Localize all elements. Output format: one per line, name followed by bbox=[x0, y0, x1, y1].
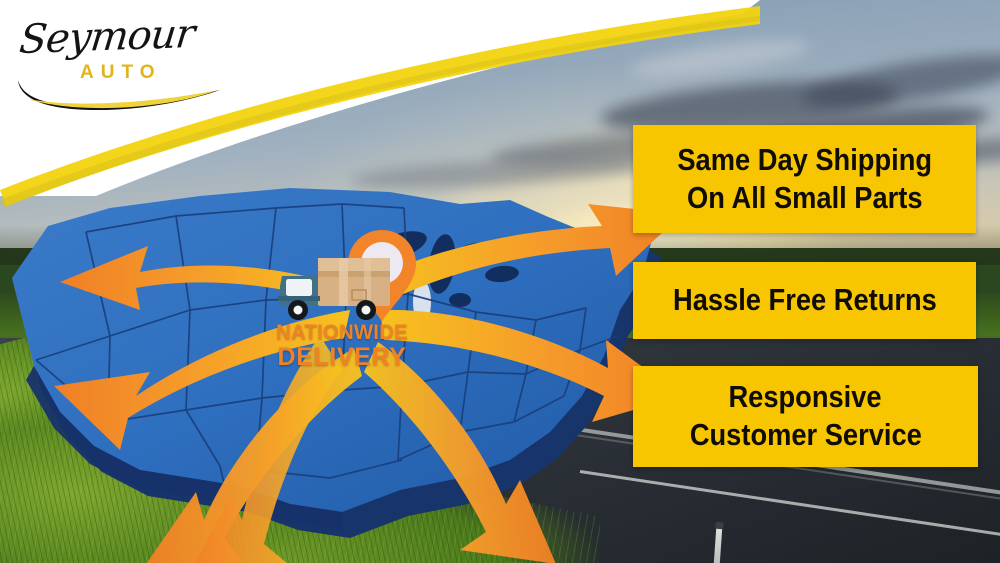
caption-line-nationwide: NATIONWIDE bbox=[264, 322, 419, 343]
feature-line: Hassle Free Returns bbox=[673, 284, 937, 317]
promo-banner-canvas: Seymour AUTO bbox=[0, 0, 1000, 563]
road-delineator-post bbox=[714, 527, 723, 563]
logo-script-text: Seymour bbox=[17, 11, 196, 63]
feature-line: Same Day Shipping bbox=[677, 144, 932, 177]
caption-line-delivery: DELIVERY bbox=[262, 345, 422, 370]
delivery-truck-icon bbox=[276, 252, 394, 324]
brand-logo[interactable]: Seymour AUTO bbox=[14, 10, 234, 106]
feature-line: Customer Service bbox=[690, 419, 922, 452]
feature-banner-same-day-shipping[interactable]: Same Day Shipping On All Small Parts bbox=[633, 125, 976, 233]
feature-line: Responsive bbox=[729, 381, 882, 414]
nationwide-delivery-caption: NATIONWIDE DELIVERY bbox=[262, 322, 422, 370]
feature-banner-hassle-free-returns[interactable]: Hassle Free Returns bbox=[633, 262, 976, 339]
logo-auto-text: AUTO bbox=[80, 62, 161, 84]
feature-line: On All Small Parts bbox=[687, 182, 922, 215]
feature-banner-responsive-customer-service[interactable]: Responsive Customer Service bbox=[633, 366, 978, 467]
